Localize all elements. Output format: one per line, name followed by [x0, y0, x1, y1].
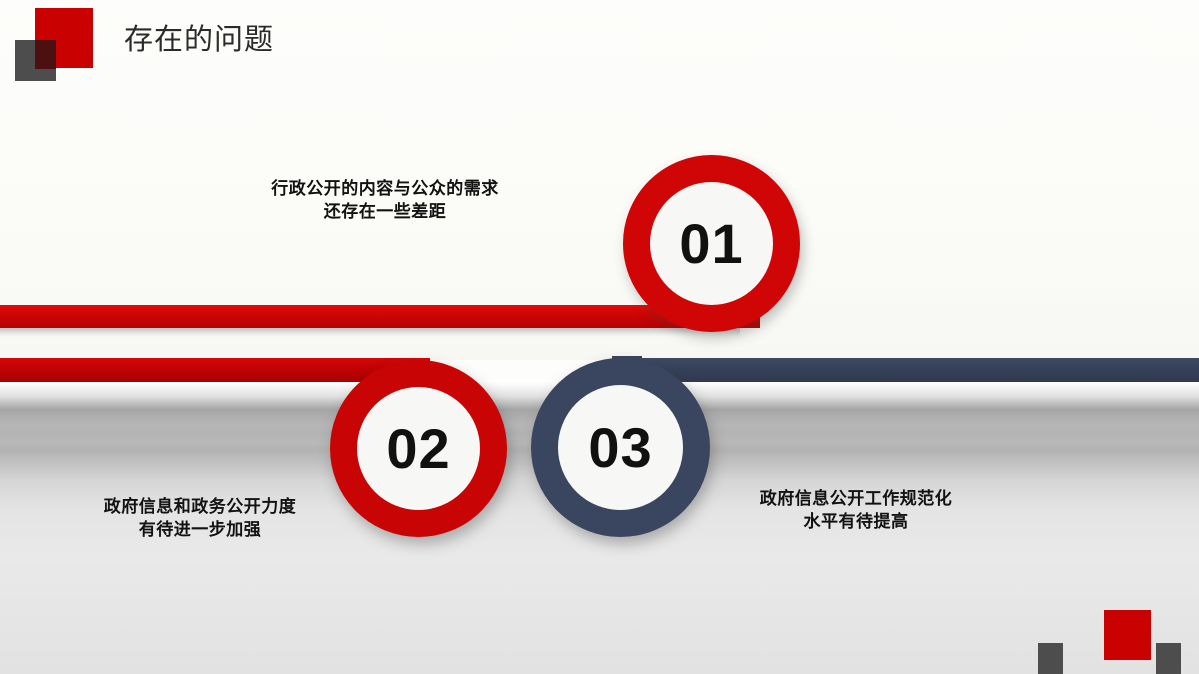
- caption-item-02-line1: 政府信息和政务公开力度: [44, 496, 356, 519]
- decor-gray-left-square: [1038, 643, 1063, 674]
- number-label-03: 03: [588, 420, 652, 476]
- caption-item-03-line1: 政府信息公开工作规范化: [700, 488, 1012, 511]
- number-label-01: 01: [679, 216, 743, 272]
- ribbon-navy: [612, 358, 1199, 382]
- decor-gray-right-square: [1156, 643, 1181, 674]
- caption-item-03-line2: 水平有待提高: [700, 511, 1012, 534]
- logo-overlap-square: [35, 40, 56, 69]
- caption-item-03: 政府信息公开工作规范化 水平有待提高: [700, 488, 1012, 534]
- decor-red-square: [1104, 610, 1151, 660]
- number-circle-01[interactable]: 01: [623, 155, 800, 332]
- number-label-02: 02: [386, 421, 450, 477]
- caption-item-01-line1: 行政公开的内容与公众的需求: [220, 178, 550, 201]
- ribbon-red-upper-shadow: [0, 328, 740, 337]
- caption-item-02-line2: 有待进一步加强: [44, 519, 356, 542]
- caption-item-02: 政府信息和政务公开力度 有待进一步加强: [44, 496, 356, 542]
- number-circle-03[interactable]: 03: [531, 358, 710, 537]
- caption-item-01: 行政公开的内容与公众的需求 还存在一些差距: [220, 178, 550, 224]
- slide-canvas: 存在的问题 行政公开的内容与公众的需求 还存在一些差距 01 02 03 政府信…: [0, 0, 1199, 674]
- ribbon-red-upper: [0, 305, 760, 328]
- number-circle-02[interactable]: 02: [330, 360, 507, 537]
- caption-item-01-line2: 还存在一些差距: [220, 201, 550, 224]
- page-title: 存在的问题: [124, 16, 274, 58]
